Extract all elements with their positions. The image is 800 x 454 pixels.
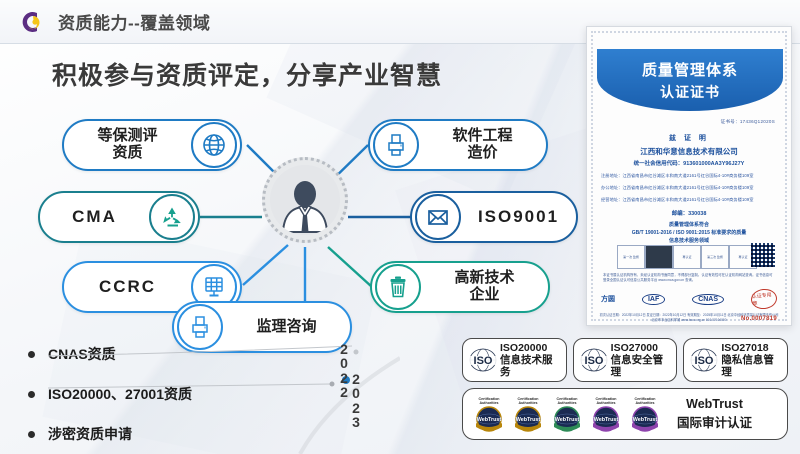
certificate-address-3: 经营地址：江西省南昌市红谷滩区丰和南大道2161号红谷国际4-10#商务楼109… xyxy=(601,197,777,203)
node-label: 软件工程 造价 xyxy=(419,128,546,162)
svg-text:Authorities: Authorities xyxy=(558,401,577,405)
iso-badge-title: ISO20000 xyxy=(500,342,562,354)
grid-cell: 再认证 xyxy=(673,245,701,269)
node-iso9001[interactable]: ISO9001 xyxy=(410,191,578,243)
node-label: ISO9001 xyxy=(461,207,576,226)
iso-badge-title: ISO27018 xyxy=(721,342,783,354)
iaf-logo-icon: IAF xyxy=(642,294,665,305)
webtrust-panel[interactable]: Certification Authorities WebTrust Certi… xyxy=(462,388,788,440)
iso-badge-27018[interactable]: ISO ISO27018 隐私信息管理 xyxy=(683,338,788,382)
printer-icon xyxy=(373,122,419,168)
certificate-image: 质量管理体系 认证证书 证书号：17436Q12020S 兹 证 明 江西和华意… xyxy=(586,26,792,326)
node-label: 等保测评 资质 xyxy=(64,128,191,162)
webtrust-seal-icon: Certification Authorities WebTrust xyxy=(510,394,546,434)
header-title: 资质能力--覆盖领域 xyxy=(58,9,210,34)
certificate-banner-line1: 质量管理体系 xyxy=(642,59,738,80)
grid-cell: 第三次 监督 xyxy=(701,245,729,269)
certificate-address-1: 注册地址：江西省南昌市红谷滩区丰和南大道2161号红谷国际4-10#商务楼109… xyxy=(601,173,777,179)
webtrust-seal-group: Certification Authorities WebTrust Certi… xyxy=(471,394,663,434)
webtrust-subtitle: 国际审计认证 xyxy=(677,414,752,433)
svg-text:ISO: ISO xyxy=(474,355,493,367)
iso-globe-icon: ISO xyxy=(689,345,719,375)
iso-badge-text: ISO27000 信息安全管理 xyxy=(611,342,673,378)
node-label: 高新技术 企业 xyxy=(421,270,548,304)
capability-diagram: 等保测评 资质 CMA xyxy=(0,95,600,365)
svg-text:WebTrust: WebTrust xyxy=(555,417,580,423)
svg-text:WebTrust: WebTrust xyxy=(516,417,541,423)
iso-badge-20000[interactable]: ISO ISO20000 信息技术服务 xyxy=(462,338,567,382)
webtrust-seal-icon: Certification Authorities WebTrust xyxy=(588,394,624,434)
iso-badge-text: ISO20000 信息技术服务 xyxy=(500,342,562,378)
iso-badge-row: ISO ISO20000 信息技术服务 ISO ISO27000 信 xyxy=(462,338,788,382)
iso-badge-desc: 信息安全管理 xyxy=(611,354,673,378)
iso-badge-title: ISO27000 xyxy=(611,342,673,354)
node-cma[interactable]: CMA xyxy=(38,191,200,243)
certificate-banner-line2: 认证证书 xyxy=(660,82,720,102)
node-gaoxin[interactable]: 高新技术 企业 xyxy=(370,261,550,313)
certificate-accreditation-logos: 方圆 IAF CNAS 认证专用章 xyxy=(601,289,777,309)
certificate-standard: GB/T 19001-2016 / ISO 9001:2015 标准要求的质量 xyxy=(587,229,791,236)
iso-globe-icon: ISO xyxy=(579,345,609,375)
iso-badge-27000[interactable]: ISO ISO27000 信息安全管理 xyxy=(573,338,678,382)
svg-text:Authorities: Authorities xyxy=(636,401,655,405)
certificate-surveillance-grid: 第一次 监督 再认证 第三次 监督 再认证 xyxy=(617,245,757,269)
page-title: 积极参与资质评定，分享产业智慧 xyxy=(52,56,442,92)
slide-canvas: 资质能力--覆盖领域 积极参与资质评定，分享产业智慧 xyxy=(0,0,800,454)
svg-text:Authorities: Authorities xyxy=(519,401,538,405)
certificate-credit-code: 统一社会信用代码：913601000AA3Y96J27Y xyxy=(587,159,791,167)
node-software[interactable]: 软件工程 造价 xyxy=(368,119,548,171)
node-label: CMA xyxy=(40,207,149,226)
certificate-number-top: 证书号：17436Q12020S xyxy=(721,119,775,125)
node-label: CCRC xyxy=(64,277,191,296)
webtrust-seal-icon: Certification Authorities WebTrust xyxy=(549,394,585,434)
fangyuan-logo-icon: 方圆 xyxy=(601,294,615,304)
globe-icon xyxy=(191,122,237,168)
timeline-years: 2022 2023 xyxy=(330,330,390,450)
red-seal-icon: 认证专用章 xyxy=(750,288,778,311)
qr-code-icon xyxy=(751,243,775,267)
svg-text:WebTrust: WebTrust xyxy=(594,417,619,423)
svg-text:WebTrust: WebTrust xyxy=(477,417,502,423)
certificate-address-2: 办公地址：江西省南昌市红谷滩区丰和南大道2161号红谷国际4-10#商务楼109… xyxy=(601,185,777,191)
webtrust-label: WebTrust 国际审计认证 xyxy=(677,395,752,433)
iso-globe-icon: ISO xyxy=(468,345,498,375)
certificate-scope-title: 质量管理体系符合 xyxy=(587,221,791,228)
svg-text:Authorities: Authorities xyxy=(480,401,499,405)
c-swirl-logo-icon xyxy=(16,7,46,37)
diagram-hub xyxy=(262,157,348,243)
person-avatar-icon xyxy=(270,165,340,235)
svg-text:Authorities: Authorities xyxy=(597,401,616,405)
certificate-fineprint: 本证书属认证机构所有，未经认证机构书面同意，不得部分复制。认证有效性可在认证机构… xyxy=(603,273,775,283)
envelope-icon xyxy=(415,194,461,240)
svg-text:WebTrust: WebTrust xyxy=(633,417,658,423)
svg-text:ISO: ISO xyxy=(584,355,603,367)
certificate-serial: No.0007819 xyxy=(741,316,777,322)
grid-cell xyxy=(645,245,673,269)
iso-badge-desc: 信息技术服务 xyxy=(500,354,562,378)
trash-bin-icon xyxy=(375,264,421,310)
webtrust-seal-icon: Certification Authorities WebTrust xyxy=(627,394,663,434)
year-label-2022: 2022 xyxy=(338,342,350,399)
certificate-subtitle: 兹 证 明 xyxy=(587,133,791,143)
iso-badge-text: ISO27018 隐私信息管理 xyxy=(721,342,783,378)
year-label-2023: 2023 xyxy=(350,372,362,429)
webtrust-title: WebTrust xyxy=(677,395,752,414)
iso-badge-desc: 隐私信息管理 xyxy=(721,354,783,378)
svg-text:ISO: ISO xyxy=(695,355,714,367)
webtrust-seal-icon: Certification Authorities WebTrust xyxy=(471,394,507,434)
recycle-icon xyxy=(149,194,195,240)
node-dengbao[interactable]: 等保测评 资质 xyxy=(62,119,242,171)
cnas-logo-icon: CNAS xyxy=(692,294,724,305)
certificate-company: 江西和华意信息技术有限公司 xyxy=(587,146,791,157)
grid-cell: 第一次 监督 xyxy=(617,245,645,269)
certificate-postal: 邮编：330038 xyxy=(587,209,791,217)
